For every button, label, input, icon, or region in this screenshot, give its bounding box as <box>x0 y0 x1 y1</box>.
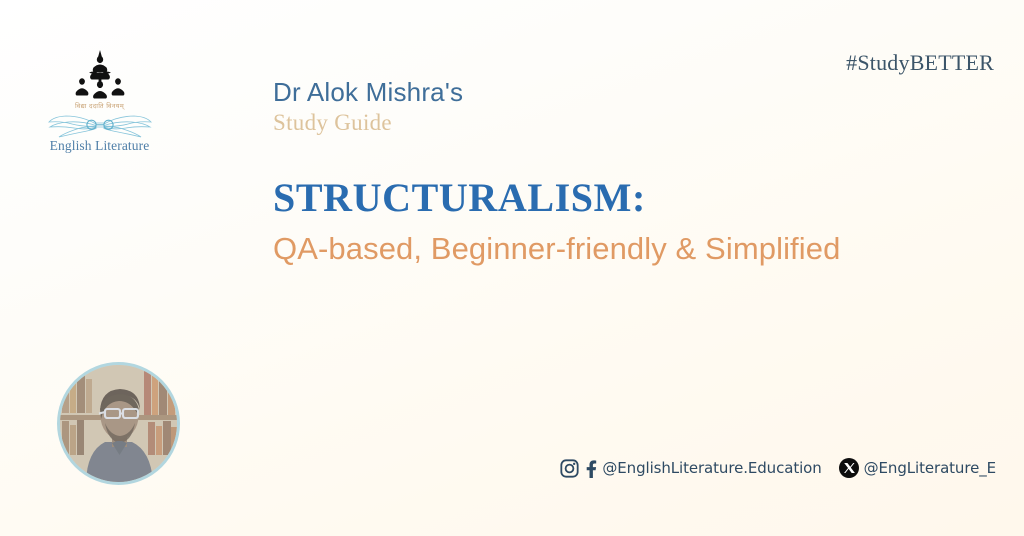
social-links-bar: @EnglishLiterature.Education @EngLiterat… <box>560 458 996 478</box>
instagram-icon[interactable] <box>560 459 579 478</box>
x-handle-label[interactable]: @EngLiterature_E <box>864 459 996 477</box>
meta-handle-group[interactable]: @EnglishLiterature.Education <box>560 459 821 478</box>
meta-handle-label[interactable]: @EnglishLiterature.Education <box>602 459 821 477</box>
page-title: STRUCTURALISM: <box>273 178 646 218</box>
series-label: Study Guide <box>273 110 463 136</box>
author-portrait-image <box>60 365 177 482</box>
author-name: Dr Alok Mishra's <box>273 78 463 107</box>
logo-sanskrit-motto: विद्या ददाति विनयम् <box>42 101 157 110</box>
page-subtitle: QA-based, Beginner-friendly & Simplified <box>273 233 840 264</box>
brand-logo[interactable]: विद्या ददाति विनयम् English Literature <box>42 48 157 154</box>
hashtag-study-better: #StudyBETTER <box>846 50 994 76</box>
x-twitter-icon[interactable] <box>839 458 859 478</box>
meditating-figures-emblem-icon <box>65 48 135 100</box>
avatar <box>57 362 180 485</box>
open-book-wings-icon <box>48 111 152 139</box>
facebook-icon[interactable] <box>584 459 597 478</box>
study-guide-banner: विद्या ददाति विनयम् English Literature <box>0 0 1024 536</box>
x-handle-group[interactable]: @EngLiterature_E <box>839 458 996 478</box>
eyebrow-block: Dr Alok Mishra's Study Guide <box>273 78 463 136</box>
logo-wordmark: English Literature <box>42 138 157 154</box>
